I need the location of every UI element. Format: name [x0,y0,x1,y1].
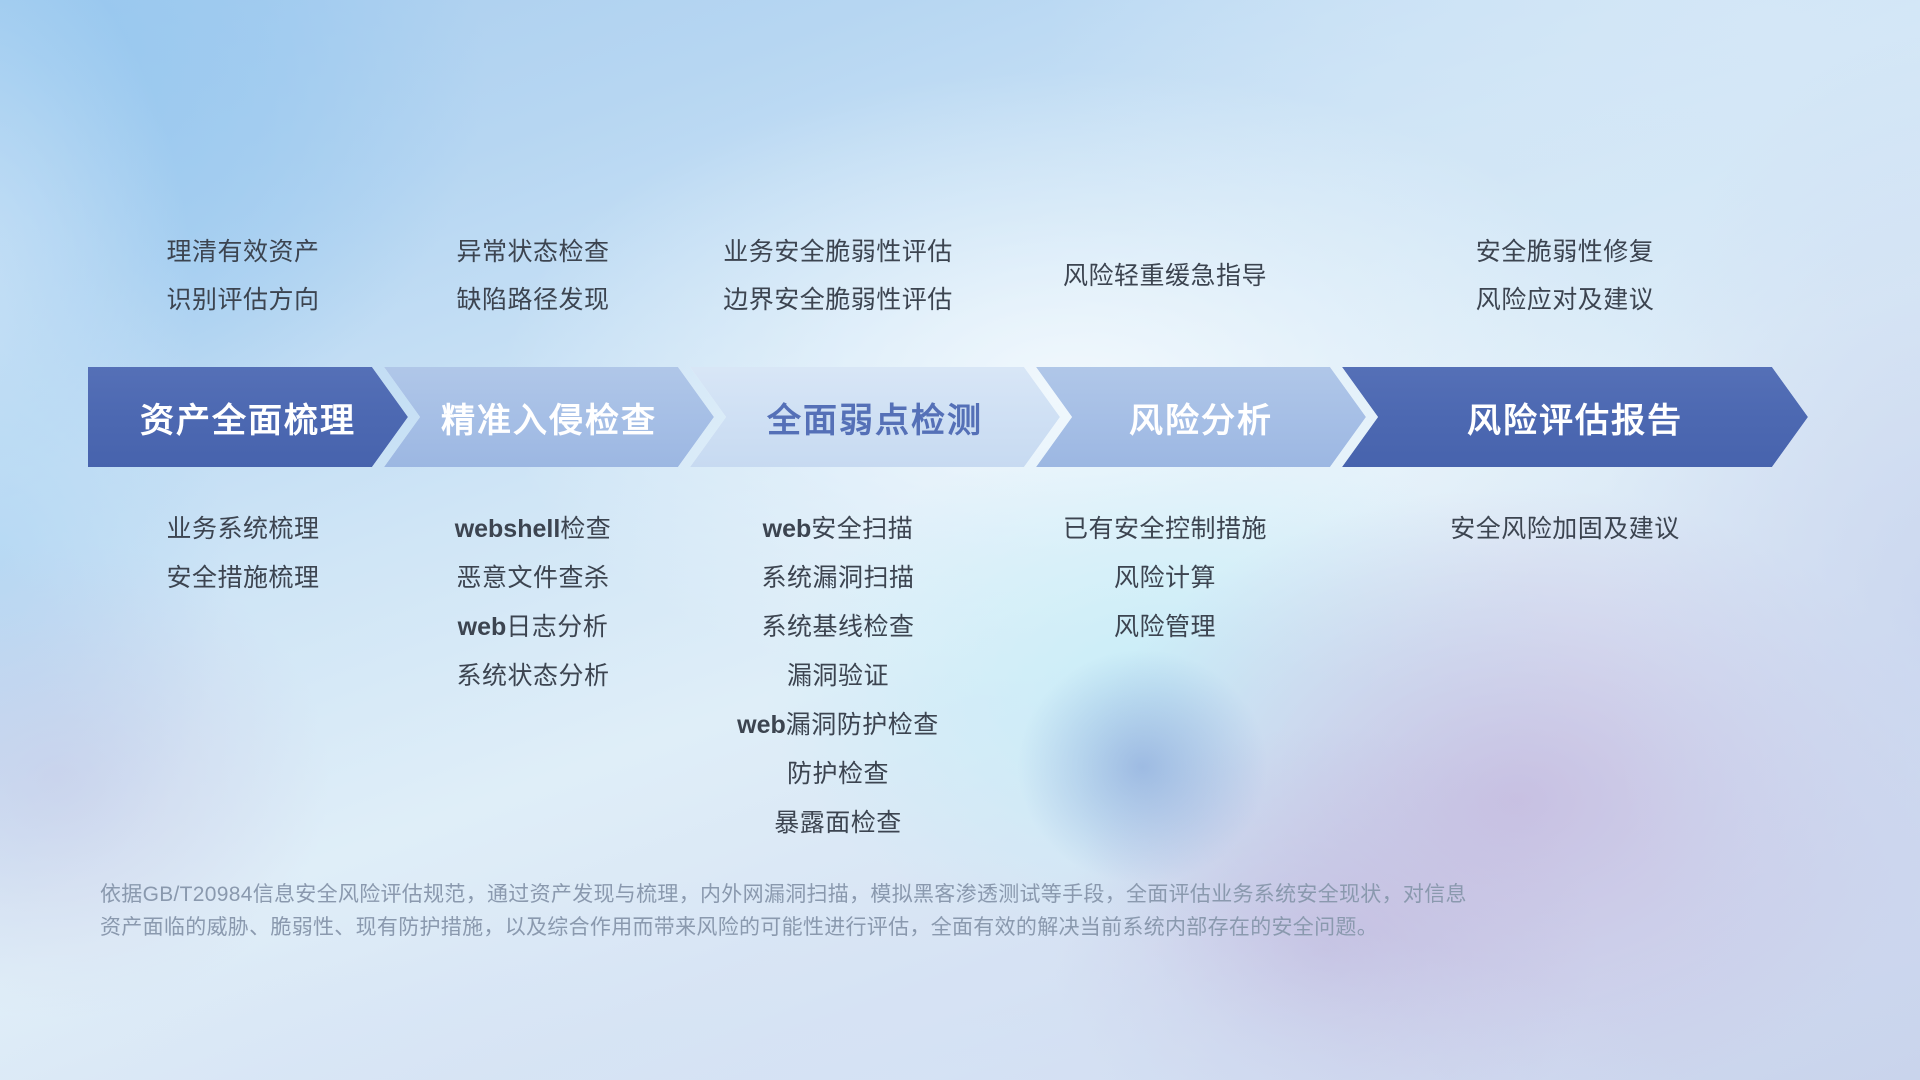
list-item-label: 安全风险加固及建议 [1450,515,1680,543]
list-item-label: 漏洞验证 [787,662,889,690]
list-item-label: 安全措施梳理 [166,564,319,592]
list-item-latin: webshell [455,515,561,543]
list-item: 系统状态分析 [378,652,688,701]
list-item: web漏洞防护检查 [668,701,1008,750]
top-notes-intrusion-check: 异常状态检查 缺陷路径发现 [378,228,688,324]
stage-items-intrusion-check: webshell检查 恶意文件查杀 web日志分析 系统状态分析 [378,505,688,701]
footer-line: 依据GB/T20984信息安全风险评估规范，通过资产发现与梳理，内外网漏洞扫描，… [100,878,1740,911]
top-note: 业务安全脆弱性评估 [668,228,1008,276]
list-item-label: 日志分析 [506,613,608,641]
top-note: 安全脆弱性修复 [1400,228,1730,276]
list-item-label: 风险管理 [1114,613,1216,641]
top-note: 异常状态检查 [378,228,688,276]
list-item-label: 安全扫描 [811,515,913,543]
list-item: 恶意文件查杀 [378,554,688,603]
top-notes-weakness-detection: 业务安全脆弱性评估 边界安全脆弱性评估 [668,228,1008,324]
process-diagram: 理清有效资产 识别评估方向 异常状态检查 缺陷路径发现 业务安全脆弱性评估 边界… [0,0,1920,1080]
footer-description: 依据GB/T20984信息安全风险评估规范，通过资产发现与梳理，内外网漏洞扫描，… [100,878,1740,944]
list-item-latin: web [737,711,786,739]
stage-chevron-asset-inventory[interactable]: 资产全面梳理 [88,367,408,467]
stage-chevron-risk-analysis[interactable]: 风险分析 [1036,367,1366,467]
list-item-latin: web [763,515,812,543]
list-item: 已有安全控制措施 [1000,505,1330,554]
list-item-label: 业务系统梳理 [166,515,319,543]
list-item-label: 系统基线检查 [761,613,914,641]
list-item: 暴露面检查 [668,799,1008,848]
stage-items-asset-inventory: 业务系统梳理 安全措施梳理 [88,505,398,603]
list-item: 防护检查 [668,750,1008,799]
process-chevron-band: 资产全面梳理 精准入侵检查 全面弱点检测 风险分析 风险评估报告 [88,367,1808,467]
list-item: 安全风险加固及建议 [1400,505,1730,554]
top-note: 边界安全脆弱性评估 [668,276,1008,324]
top-note: 风险应对及建议 [1400,276,1730,324]
top-notes-asset-inventory: 理清有效资产 识别评估方向 [88,228,398,324]
list-item: 风险计算 [1000,554,1330,603]
stage-title: 精准入侵检查 [441,393,657,442]
top-note: 缺陷路径发现 [378,276,688,324]
stage-title: 风险评估报告 [1467,393,1683,442]
list-item-label: 恶意文件查杀 [456,564,609,592]
list-item-label: 系统状态分析 [456,662,609,690]
list-item-label: 防护检查 [787,760,889,788]
list-item: 业务系统梳理 [88,505,398,554]
stage-chevron-risk-report[interactable]: 风险评估报告 [1342,367,1808,467]
list-item: 风险管理 [1000,603,1330,652]
list-item-label: 暴露面检查 [774,809,902,837]
stage-items-risk-analysis: 已有安全控制措施 风险计算 风险管理 [1000,505,1330,652]
footer-line: 资产面临的威胁、脆弱性、现有防护措施，以及综合作用而带来风险的可能性进行评估，全… [100,911,1740,944]
list-item: webshell检查 [378,505,688,554]
top-note: 风险轻重缓急指导 [1000,252,1330,300]
list-item-label: 检查 [560,515,611,543]
top-note: 理清有效资产 [88,228,398,276]
top-notes-risk-analysis: 风险轻重缓急指导 [1000,252,1330,300]
list-item: 系统漏洞扫描 [668,554,1008,603]
stage-items-weakness-detection: web安全扫描 系统漏洞扫描 系统基线检查 漏洞验证 web漏洞防护检查 防护检… [668,505,1008,848]
list-item: 系统基线检查 [668,603,1008,652]
stage-chevron-intrusion-check[interactable]: 精准入侵检查 [384,367,714,467]
list-item-label: 风险计算 [1114,564,1216,592]
list-item-latin: web [458,613,507,641]
list-item: web日志分析 [378,603,688,652]
stage-title: 风险分析 [1129,393,1273,442]
stage-title: 资产全面梳理 [140,393,356,442]
slide-canvas: 理清有效资产 识别评估方向 异常状态检查 缺陷路径发现 业务安全脆弱性评估 边界… [0,0,1920,1080]
list-item: 安全措施梳理 [88,554,398,603]
list-item-label: 漏洞防护检查 [786,711,939,739]
stage-title: 全面弱点检测 [767,393,983,442]
top-notes-risk-report: 安全脆弱性修复 风险应对及建议 [1400,228,1730,324]
top-note: 识别评估方向 [88,276,398,324]
list-item: web安全扫描 [668,505,1008,554]
list-item-label: 已有安全控制措施 [1063,515,1267,543]
stage-items-risk-report: 安全风险加固及建议 [1400,505,1730,554]
stage-chevron-weakness-detection[interactable]: 全面弱点检测 [690,367,1060,467]
list-item-label: 系统漏洞扫描 [761,564,914,592]
list-item: 漏洞验证 [668,652,1008,701]
